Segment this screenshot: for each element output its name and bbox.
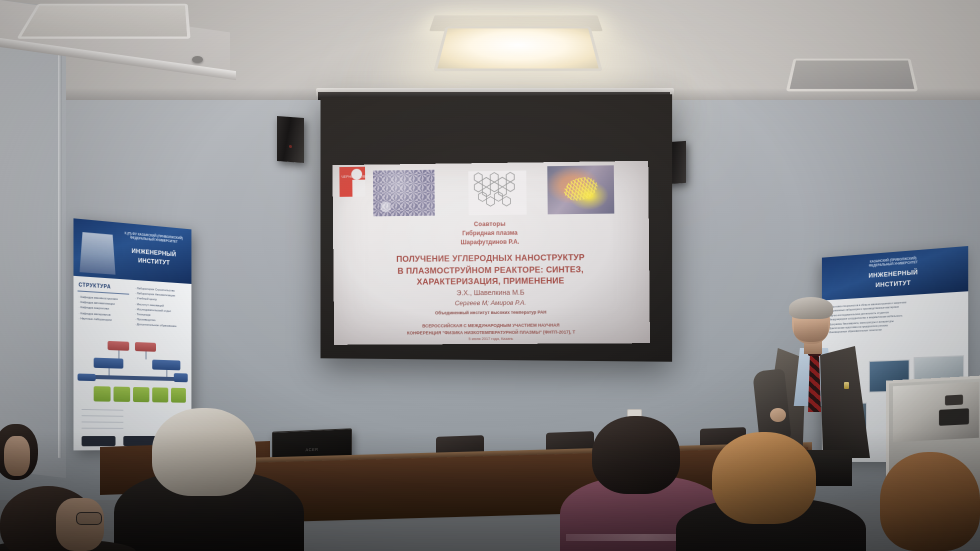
slide-conference-line-2: КОНФЕРЕНЦИЯ "ФИЗИКА НИЗКОТЕМПЕРАТУРНОЙ П…	[334, 329, 650, 336]
audience-far-left-face	[4, 436, 30, 476]
lecture-hall-scene: ЧЕРНОГОЛОВКА	[0, 0, 980, 551]
presentation-slide: ЧЕРНОГОЛОВКА	[332, 161, 650, 345]
slide-title-line-3: ХАРАКТЕРИЗАЦИЯ, ПРИМЕНЕНИЕ	[334, 275, 650, 289]
presenter-hair	[789, 297, 833, 319]
wall-speaker-left	[277, 116, 304, 163]
ceiling-light-center	[433, 26, 602, 71]
laptop-brand-label: ACER	[305, 447, 318, 453]
slide-coauthor-line-1: Гибридная плазма	[333, 229, 649, 238]
slide-authors-line-2: Сергеев М; Амиров Р.А.	[334, 299, 650, 308]
audience-grey-haired-head	[152, 408, 256, 496]
conference-logo-icon	[339, 167, 365, 197]
presenter-tie	[808, 350, 821, 412]
left-wall	[0, 0, 66, 478]
wall-corner-edge	[58, 18, 62, 459]
cabinet-glass-door[interactable]	[893, 382, 979, 443]
presenter-face-shadow	[794, 320, 828, 342]
slide-image-graphene-lattice	[373, 170, 435, 217]
slide-conference-line-1: ВСЕРОССИЙСКАЯ С МЕЖДУНАРОДНЫМ УЧАСТИЕМ Н…	[334, 322, 650, 329]
audience-bottom-right	[880, 452, 980, 551]
presenter-hand	[770, 408, 786, 422]
ceiling-light-right	[786, 59, 918, 92]
logo-caption: ЧЕРНОГОЛОВКА	[341, 175, 369, 179]
hexagonal-molecular-structure-icon	[468, 171, 526, 216]
poster-left-list: · Кафедра машиностроения· Кафедра автома…	[79, 295, 129, 324]
slide-image-nanostructure-render	[547, 165, 614, 214]
ceiling-light-left	[17, 4, 191, 39]
slide-title: ПОЛУЧЕНИЕ УГЛЕРОДНЫХ НАНОСТРУКТУР В ПЛАЗ…	[333, 251, 649, 288]
presenter-lapel-badge	[844, 382, 849, 389]
audience-blond-right-head	[712, 432, 816, 524]
speaker-led-icon	[289, 145, 292, 148]
poster-left-list-right: · Лаборатория Строительства· Лаборатория…	[135, 286, 188, 330]
slide-conference-line-3: 5 июня 2017 года, Казань	[334, 336, 650, 342]
slide-authors-line-1: Э.Х., Шавелкина М.Б	[334, 289, 650, 298]
audience-pink-shirt-head	[592, 416, 680, 494]
slide-coauthors-label: Соавторы	[333, 220, 649, 229]
slide-coauthor-line-2: Шарафутдинов Р.А.	[333, 238, 649, 247]
slide-institute: Объединенный институт высоких температур…	[334, 309, 650, 316]
presenter-jacket-right	[820, 346, 870, 458]
eyeglasses-icon	[76, 512, 102, 525]
smoke-detector-icon	[192, 56, 203, 63]
poster-left-section-label: СТРУКТУРА	[79, 282, 111, 290]
